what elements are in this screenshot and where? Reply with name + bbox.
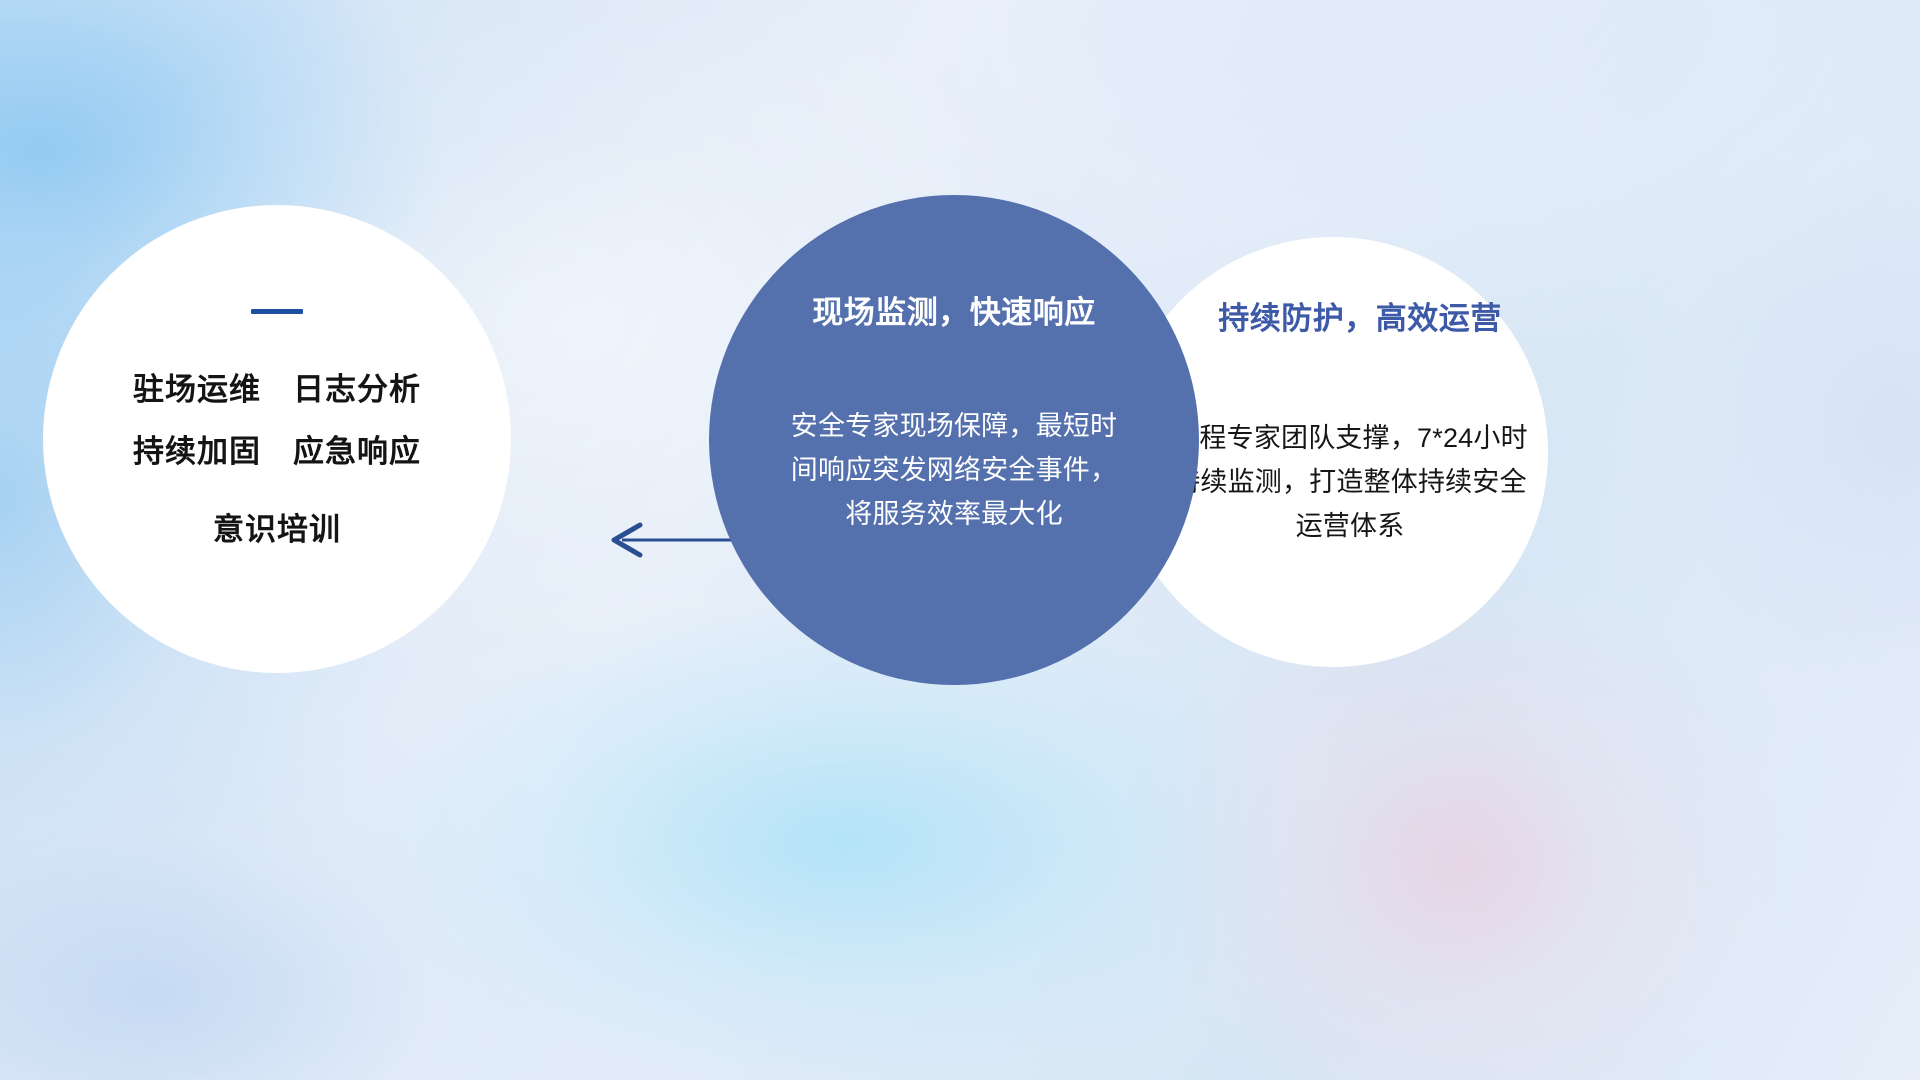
service-tag[interactable]: 持续加固 [133,421,261,483]
service-tag[interactable]: 驻场运维 [133,359,261,421]
service-tag[interactable]: 应急响应 [293,421,421,483]
right-circle-title: 持续防护，高效运营 [1164,293,1502,338]
slide-canvas: 持续防护，高效运营 远程专家团队支撑，7*24小时持续监测，打造整体持续安全运营… [0,0,1920,1080]
service-tag[interactable]: 日志分析 [293,359,421,421]
card-service-capabilities[interactable]: 驻场运维 日志分析 持续加固 应急响应 意识培训 [43,205,511,673]
service-tag-row: 意识培训 [213,499,341,561]
card-onsite-monitoring[interactable]: 现场监测，快速响应 安全专家现场保障，最短时间响应突发网络安全事件，将服务效率最… [709,195,1199,685]
service-tag-row: 驻场运维 日志分析 [133,359,421,421]
service-tag-row: 持续加固 应急响应 [133,421,421,483]
service-tag-list: 驻场运维 日志分析 持续加固 应急响应 意识培训 [133,359,421,561]
divider-dash-icon [251,309,303,314]
service-tag[interactable]: 意识培训 [213,499,341,561]
mid-circle-body: 安全专家现场保障，最短时间响应突发网络安全事件，将服务效率最大化 [789,404,1119,536]
mid-circle-title: 现场监测，快速响应 [812,287,1096,332]
